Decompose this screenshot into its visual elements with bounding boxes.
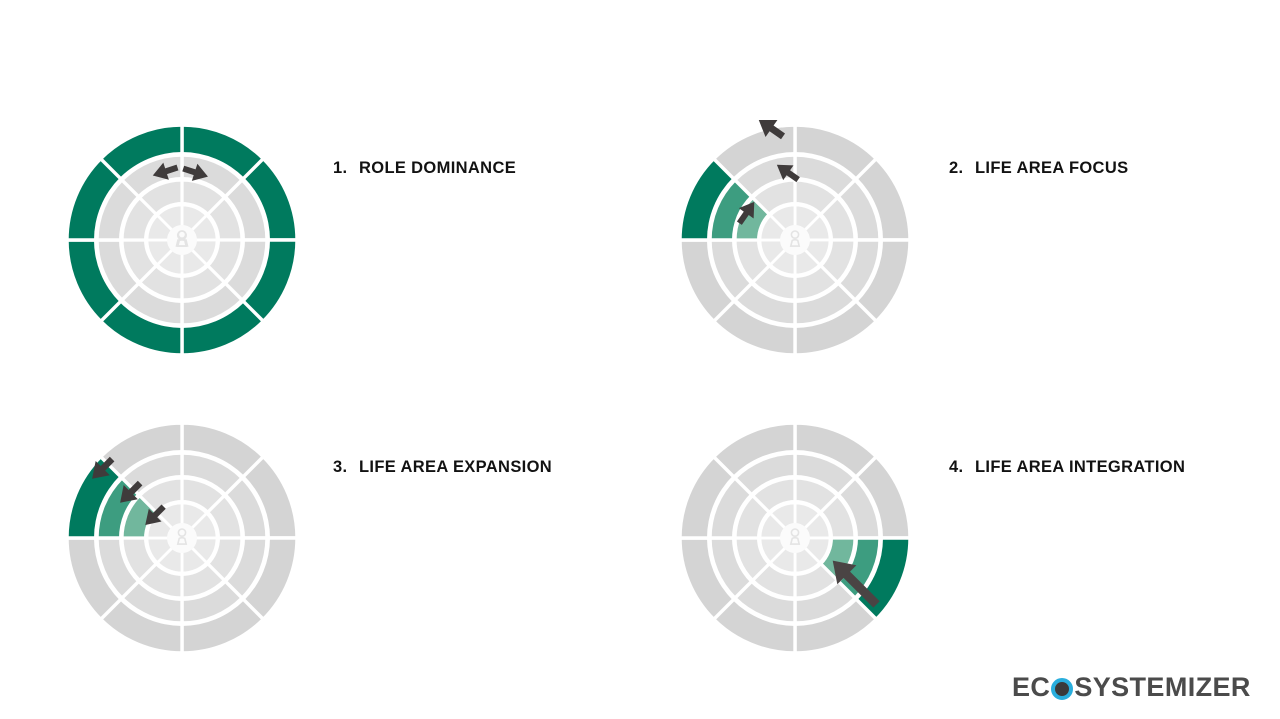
person-pawn-icon — [167, 225, 197, 255]
caption-life-area-focus: 2.LIFE AREA FOCUS — [949, 159, 1128, 178]
caption-label: LIFE AREA EXPANSION — [359, 458, 552, 476]
slide-canvas: 1.ROLE DOMINANCE 2.LIFE AREA FOCUS 3.LIF… — [0, 0, 1280, 719]
caption-number: 3. — [333, 458, 359, 477]
caption-role-dominance: 1.ROLE DOMINANCE — [333, 159, 516, 178]
caption-label: LIFE AREA INTEGRATION — [975, 458, 1185, 476]
wheel-life-area-focus[interactable] — [675, 120, 915, 360]
ecosystemizer-logo: EC SYSTEMIZER — [1012, 672, 1251, 703]
wheel-life-area-integration[interactable] — [675, 418, 915, 658]
person-pawn-icon — [780, 523, 810, 553]
caption-number: 1. — [333, 159, 359, 178]
logo-text-before: EC — [1012, 672, 1050, 703]
caption-label: LIFE AREA FOCUS — [975, 159, 1128, 177]
caption-life-area-expansion: 3.LIFE AREA EXPANSION — [333, 458, 552, 477]
person-pawn-icon — [167, 523, 197, 553]
caption-label: ROLE DOMINANCE — [359, 159, 516, 177]
wheel-life-area-expansion[interactable] — [62, 418, 302, 658]
caption-life-area-integration: 4.LIFE AREA INTEGRATION — [949, 458, 1185, 477]
caption-number: 2. — [949, 159, 975, 178]
wheel-role-dominance[interactable] — [62, 120, 302, 360]
o-ring-icon — [1051, 678, 1073, 700]
person-pawn-icon — [780, 225, 810, 255]
logo-text-after: SYSTEMIZER — [1074, 672, 1251, 703]
caption-number: 4. — [949, 458, 975, 477]
